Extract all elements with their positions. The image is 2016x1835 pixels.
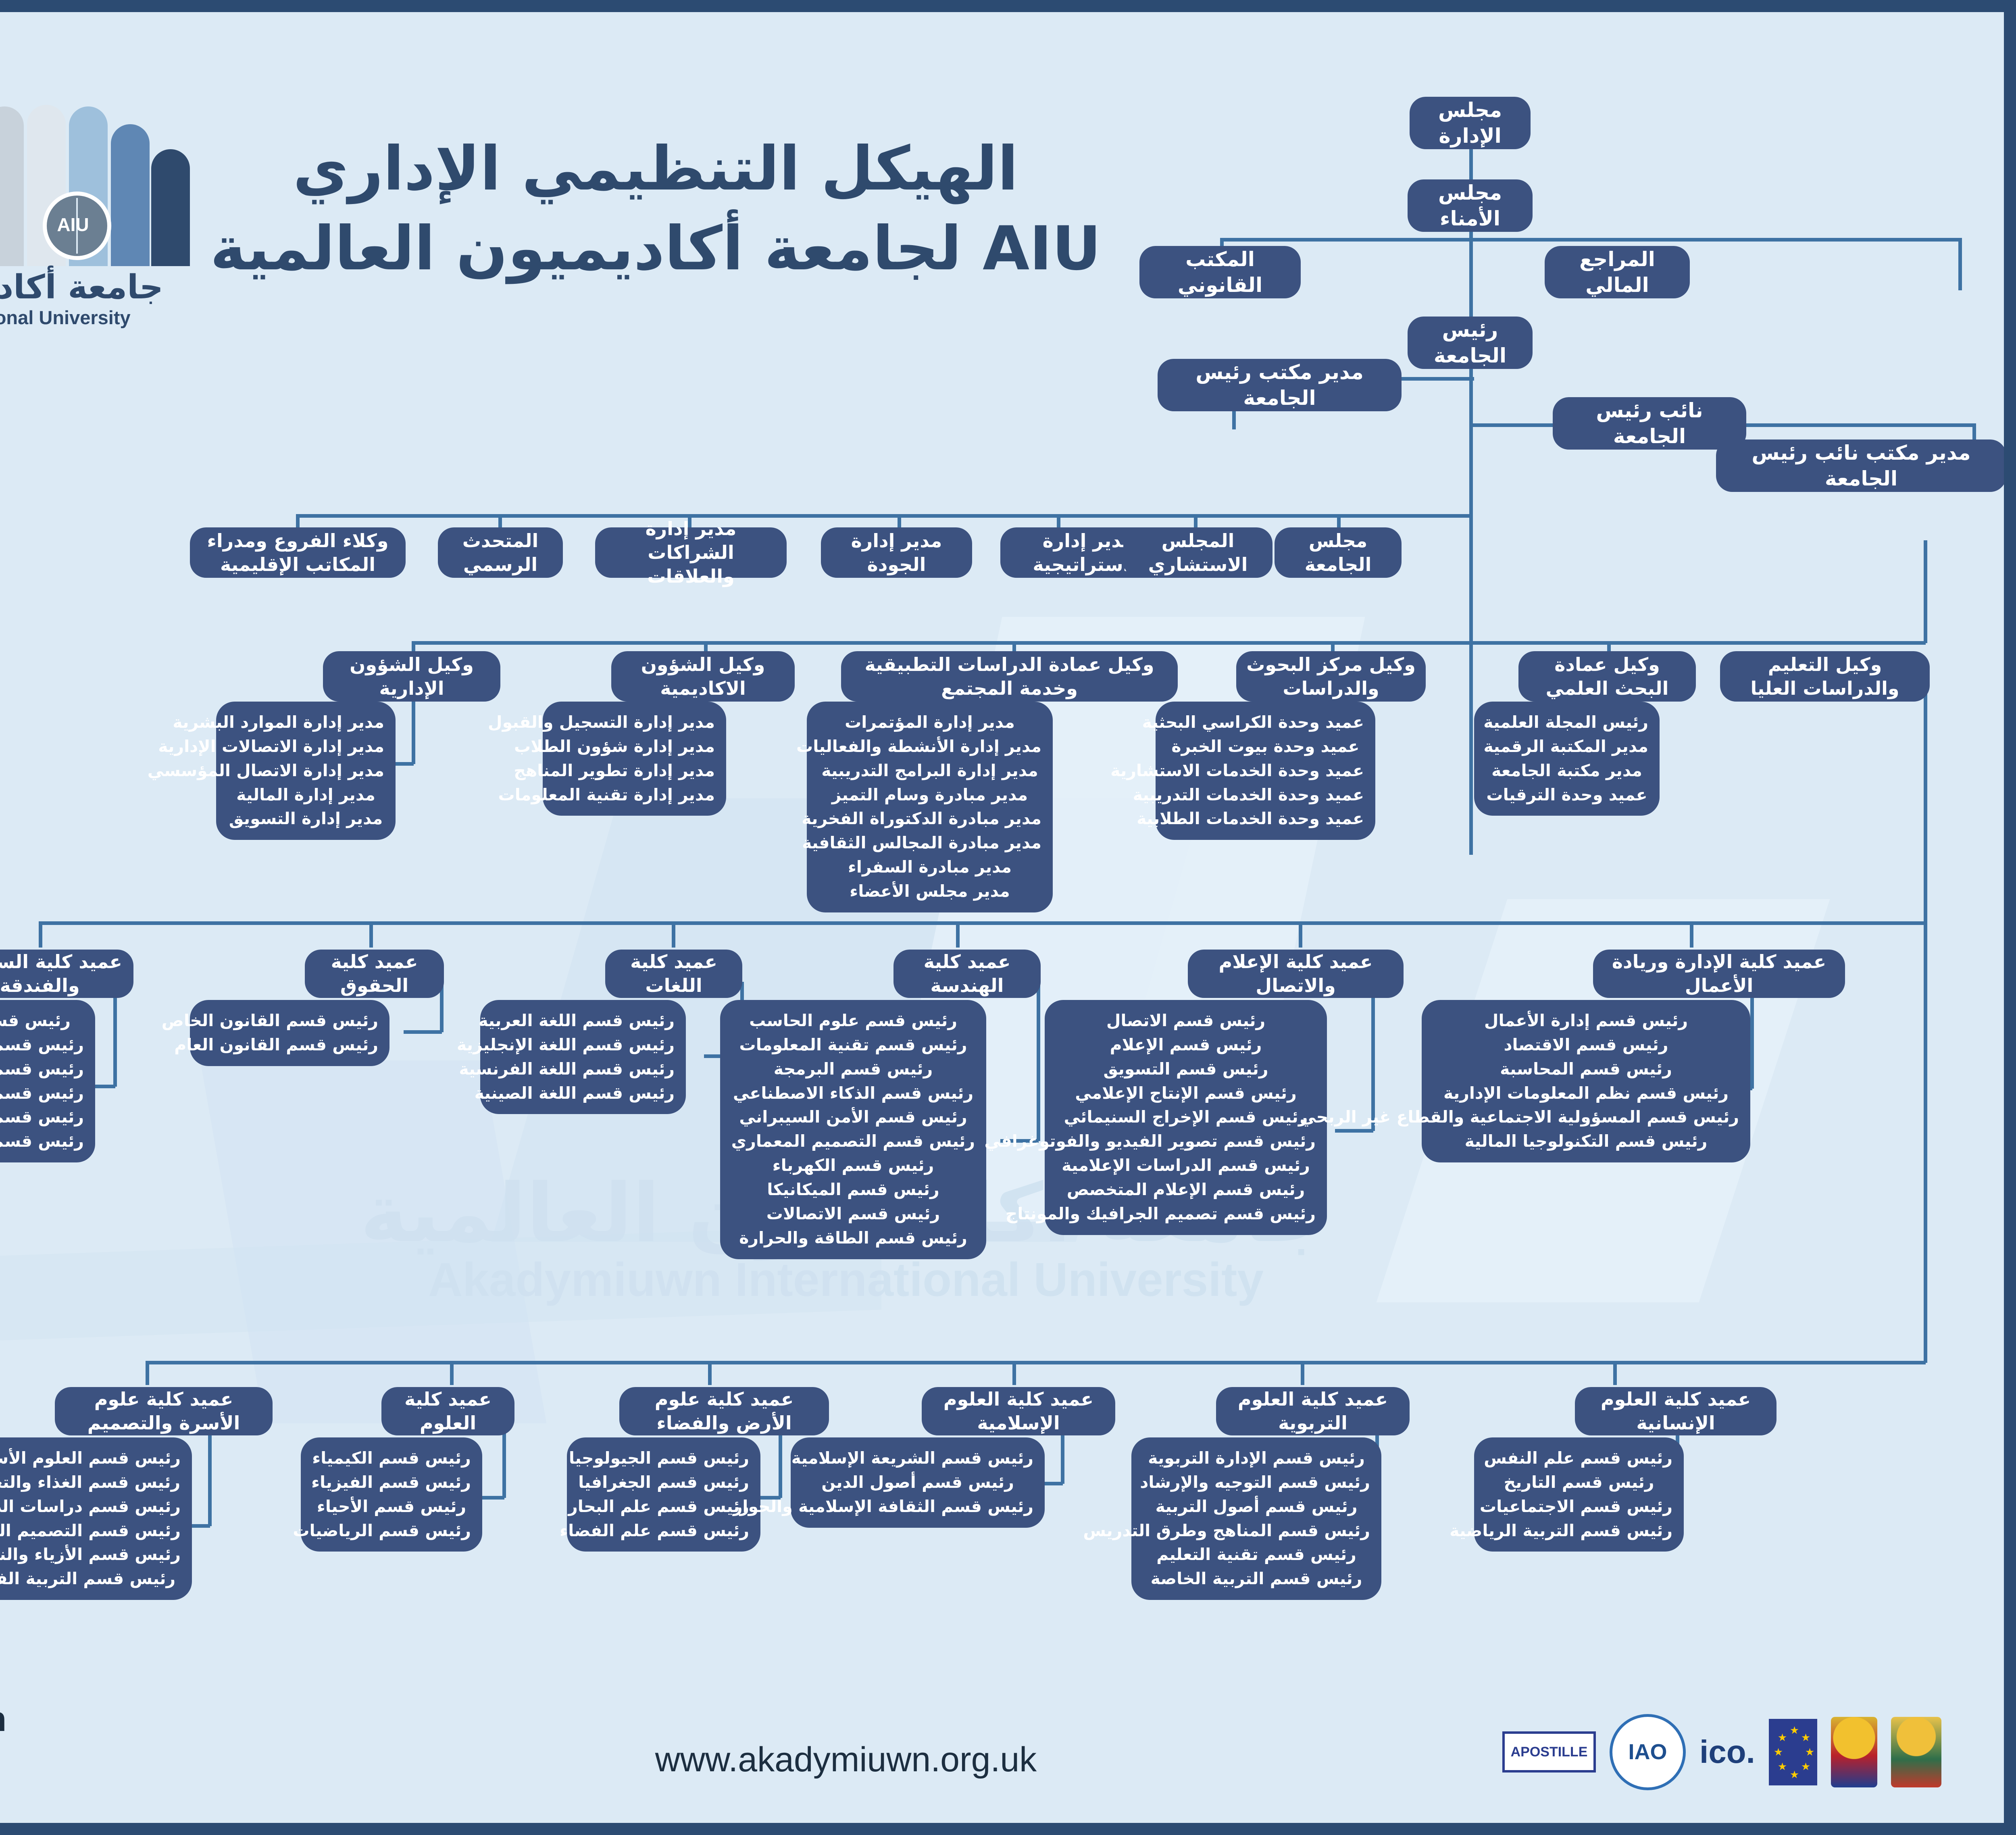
list-educational-departments: رئيس قسم الإدارة التربويةرئيس قسم التوجي…: [1131, 1437, 1381, 1600]
node-board-of-directors[interactable]: مجلس الإدارة: [1410, 97, 1531, 149]
list-media-departments: رئيس قسم الاتصالرئيس قسم الإعلامرئيس قسم…: [1045, 1000, 1327, 1235]
watermark: جامعة أكاديميون العالمية Akadymiuwn Inte…: [0, 1173, 2004, 1306]
list-item[interactable]: رئيس قسم دراسات الطفولة: [0, 1495, 181, 1519]
node-dean-law[interactable]: عميد كلية الحقوق: [305, 950, 444, 998]
list-item[interactable]: رئيس قسم الكيمياء: [312, 1446, 471, 1470]
list-item[interactable]: عميد وحدة الترقيات: [1485, 783, 1648, 807]
connector: [1335, 1129, 1373, 1133]
connector: [404, 1030, 442, 1034]
list-academic-affairs: مدير إدارة التسجيل والقبولمدير إدارة شؤو…: [543, 702, 726, 816]
title-line-2: لجامعة أكاديميون العالمية AIU: [192, 209, 1119, 289]
eu-flag-icon: ★★ ★★ ★★ ★★: [1769, 1719, 1817, 1785]
background-ray: [200, 1060, 547, 1423]
node-official-spokesperson[interactable]: المتحدث الرسمي: [438, 527, 563, 578]
node-dean-educational-sciences[interactable]: عميد كلية العلوم التربوية: [1216, 1387, 1410, 1435]
connector: [296, 514, 1471, 518]
connector: [1301, 1361, 1304, 1385]
list-item[interactable]: رئيس قسم الأزياء والنسيج: [0, 1543, 181, 1567]
list-business-departments: رئيس قسم إدارة الأعمالرئيس قسم الاقتصادر…: [1422, 1000, 1750, 1162]
connector: [1613, 1361, 1617, 1385]
list-item[interactable]: رئيس قسم التصميم الداخلي والأثاث: [0, 1519, 181, 1543]
list-item[interactable]: مدير إدارة المالية: [227, 783, 384, 807]
list-item[interactable]: رئيس قسم الإدارة السياحية: [0, 1033, 84, 1057]
list-item[interactable]: رئيس قسم علم النفس: [1485, 1446, 1672, 1470]
connector: [146, 1361, 149, 1385]
connector: [1037, 982, 1040, 1141]
list-item[interactable]: رئيس قسم تصوير الفيديو والفوتوغرافي: [1056, 1129, 1316, 1154]
iao-label: IAO: [1610, 1714, 1686, 1790]
logo-mark-text: AIU: [43, 214, 103, 235]
list-item[interactable]: رئيس قسم الرياضيات: [312, 1519, 471, 1543]
list-engineering-departments: رئيس قسم علوم الحاسبرئيس قسم تقنية المعل…: [720, 1000, 986, 1259]
list-law-departments: رئيس قسم القانون الخاصرئيس قسم القانون ا…: [190, 1000, 389, 1066]
list-research-center: عميد وحدة الكراسي البحثيةعميد وحدة بيوت …: [1156, 702, 1375, 840]
list-item[interactable]: رئيس قسم أصول التربية: [1143, 1495, 1370, 1519]
node-university-council[interactable]: مجلس الجامعة: [1275, 527, 1402, 578]
crest-icon: [1831, 1717, 1877, 1787]
list-item[interactable]: رئيس قسم الثقافة الإسلامية والحوار: [802, 1495, 1033, 1519]
list-item[interactable]: رئيس قسم البرمجة: [731, 1057, 975, 1081]
list-item[interactable]: رئيس قسم الفيزياء: [312, 1470, 471, 1495]
list-item[interactable]: مدير إدارة المؤتمرات: [818, 710, 1041, 735]
list-languages-departments: رئيس قسم اللغة العربيةرئيس قسم اللغة الإ…: [480, 1000, 686, 1114]
list-item[interactable]: عميد وحدة الخدمات الاستشارية: [1167, 759, 1364, 783]
list-item[interactable]: رئيس قسم الجيولوجيا: [578, 1446, 749, 1470]
list-item[interactable]: رئيس قسم الإخراج السنيمائي: [1056, 1105, 1316, 1129]
list-item[interactable]: عميد وحدة الخدمات الطلابية: [1167, 807, 1364, 831]
list-family-sciences-departments: رئيس قسم العلوم الأسريةرئيس قسم الغذاء و…: [0, 1437, 192, 1600]
node-dean-tourism-hospitality[interactable]: عميد كلية السياحة والفندقة: [0, 950, 133, 998]
list-item[interactable]: رئيس قسم الجغرافيا: [578, 1470, 749, 1495]
list-item[interactable]: رئيس قسم الاقتصاد: [1433, 1033, 1739, 1057]
list-item[interactable]: رئيس قسم الدراسات الإعلامية: [1056, 1154, 1316, 1178]
list-item[interactable]: مدير مبادرة المجالس الثقافية: [818, 831, 1041, 855]
list-item[interactable]: رئيس قسم الشريعة الإسلامية: [802, 1446, 1033, 1470]
node-dean-business-entrepreneurship[interactable]: عميد كلية الإدارة وريادة الأعمال: [1593, 950, 1845, 998]
watermark-arabic: جامعة أكاديميون العالمية: [0, 1173, 2004, 1254]
list-item[interactable]: مدير مجلس الأعضاء: [818, 879, 1041, 904]
list-item[interactable]: رئيس قسم التربية الفنية: [0, 1567, 181, 1591]
connector: [369, 921, 373, 948]
apostille-badge: APOSTILLE: [1502, 1718, 1596, 1786]
list-item[interactable]: رئيس المجلة العلمية: [1485, 710, 1648, 735]
node-vice-rector-administrative[interactable]: وكيل الشؤون الإدارية: [323, 651, 500, 702]
list-item[interactable]: رئيس قسم الإنتاج الإعلامي: [1056, 1081, 1316, 1106]
node-university-president[interactable]: رئيس الجامعة: [1408, 317, 1533, 369]
node-legal-office[interactable]: المكتب القانوني: [1139, 246, 1301, 298]
list-item[interactable]: رئيس قسم الاجتماعيات: [1485, 1495, 1672, 1519]
connector: [1012, 1361, 1016, 1385]
connector: [1220, 238, 1962, 242]
accreditation-badges: APOSTILLE IAO ico. ★★ ★★ ★★ ★★: [1502, 1718, 1941, 1786]
list-item[interactable]: رئيس قسم الأحياء: [312, 1495, 471, 1519]
node-vice-rector-applied-studies[interactable]: وكيل عمادة الدراسات التطبيقية وخدمة المج…: [841, 651, 1178, 702]
list-item[interactable]: رئيس قسم الكهرباء: [731, 1154, 975, 1178]
node-vice-rector-scientific-research[interactable]: وكيل عمادة البحث العلمي: [1518, 651, 1696, 702]
list-earth-space-departments: رئيس قسم الجيولوجيارئيس قسم الجغرافيارئي…: [567, 1437, 760, 1552]
list-item[interactable]: مدير مبادرة الدكتوراة الفخرية: [818, 807, 1041, 831]
list-item[interactable]: رئيس قسم القانون الخاص: [201, 1009, 378, 1033]
list-item[interactable]: مدير إدارة الموارد البشرية: [227, 710, 384, 735]
list-item[interactable]: عميد وحدة الخدمات التدريبية: [1167, 783, 1364, 807]
page-title: الهيكل التنظيمي الإداري لجامعة أكاديميون…: [192, 129, 1119, 289]
list-item[interactable]: عميد وحدة الكراسي البحثية: [1167, 710, 1364, 735]
node-vice-president[interactable]: نائب رئيس الجامعة: [1553, 397, 1746, 450]
list-item[interactable]: رئيس قسم علم الفضاء: [578, 1519, 749, 1543]
list-item[interactable]: رئيس قسم الاتصالات: [731, 1202, 975, 1226]
list-item[interactable]: رئيس قسم المسؤولية الاجتماعية والقطاع غي…: [1433, 1105, 1739, 1129]
list-item[interactable]: رئيس قسم الميكانيكا: [731, 1178, 975, 1202]
list-item[interactable]: مدير إدارة التسويق: [227, 807, 384, 831]
list-item[interactable]: رئيس قسم الأغذية والمشروبات: [0, 1129, 84, 1154]
node-dean-media-communication[interactable]: عميد كلية الإعلام والاتصال: [1188, 950, 1404, 998]
list-item[interactable]: مدير إدارة التسجيل والقبول: [554, 710, 715, 735]
node-dean-humanities[interactable]: عميد كلية العلوم الإنسانية: [1575, 1387, 1776, 1435]
list-item[interactable]: مدير مبادرة السفراء: [818, 855, 1041, 879]
connector: [956, 921, 960, 948]
crest-icon: [1891, 1717, 1941, 1787]
list-item[interactable]: عميد وحدة بيوت الخبرة: [1167, 735, 1364, 759]
connector: [39, 921, 1926, 925]
list-item[interactable]: مدير إدارة البرامج التدريبية: [818, 759, 1041, 783]
list-item[interactable]: رئيس قسم اللغة الصينية: [492, 1081, 675, 1106]
list-item[interactable]: رئيس قسم التسويق: [1056, 1057, 1316, 1081]
list-item[interactable]: رئيس قسم الإدارة الفندقية: [0, 1081, 84, 1106]
list-item[interactable]: رئيس قسم الغذاء والتغذية: [0, 1470, 181, 1495]
list-item[interactable]: رئيس قسم تقنية المعلومات: [731, 1033, 975, 1057]
list-item[interactable]: رئيس قسم الإعلام: [1056, 1033, 1316, 1057]
logo-arabic-name: جامعة أكاديميون العالمية: [0, 268, 170, 306]
node-dean-family-sciences-design[interactable]: عميد كلية علوم الأسرة والتصميم: [55, 1387, 273, 1435]
list-item[interactable]: مدير إدارة تطوير المناهج: [554, 759, 715, 783]
list-item[interactable]: رئيس قسم المحاسبة: [1433, 1057, 1739, 1081]
list-item[interactable]: مدير إدارة الاتصالات الإدارية: [227, 735, 384, 759]
node-dean-languages[interactable]: عميد كلية اللغات: [605, 950, 742, 998]
eu-flag-badge: ★★ ★★ ★★ ★★: [1769, 1718, 1817, 1786]
list-item[interactable]: مدير إدارة الأنشطة والفعاليات: [818, 735, 1041, 759]
logo-mark: AIU: [0, 105, 190, 266]
university-logo: AIU جامعة أكاديميون العالمية Akadymiuwn …: [0, 105, 170, 331]
list-item[interactable]: رئيس قسم أصول الدين: [802, 1470, 1033, 1495]
list-item[interactable]: رئيس قسم إدارة الأعمال: [1433, 1009, 1739, 1033]
list-sciences-departments: رئيس قسم الكيمياءرئيس قسم الفيزياءرئيس ق…: [301, 1437, 482, 1552]
list-item[interactable]: رئيس قسم الاتصال: [1056, 1009, 1316, 1033]
list-islamic-departments: رئيس قسم الشريعة الإسلاميةرئيس قسم أصول …: [791, 1437, 1045, 1528]
org-chart-poster: جامعة أكاديميون العالمية Akadymiuwn Inte…: [0, 0, 2016, 1835]
list-item[interactable]: مدير إدارة شؤون الطلاب: [554, 735, 715, 759]
node-vice-rector-education-graduate[interactable]: وكيل التعليم والدراسات العليا: [1720, 651, 1930, 702]
list-item[interactable]: رئيس قسم الأمن السيبراني: [731, 1105, 975, 1129]
node-dean-sciences[interactable]: عميد كلية العلوم: [381, 1387, 514, 1435]
list-item[interactable]: رئيس قسم اللغة الفرنسية: [492, 1057, 675, 1081]
list-item[interactable]: رئيس قسم الذكاء الاصطناعي: [731, 1081, 975, 1106]
list-item[interactable]: رئيس قسم اللغة الإنجليزية: [492, 1033, 675, 1057]
ico-badge: ico.: [1699, 1718, 1755, 1786]
connector: [708, 1361, 712, 1385]
node-branch-agents[interactable]: وكلاء الفروع ومدراء المكاتب الإقليمية: [190, 527, 406, 578]
connector: [39, 921, 42, 948]
list-item[interactable]: مدير المكتبة الرقمية: [1485, 735, 1648, 759]
list-item[interactable]: رئيس قسم علوم الحاسب: [731, 1009, 975, 1033]
list-administrative-affairs: مدير إدارة الموارد البشريةمدير إدارة الا…: [216, 702, 396, 840]
node-dean-engineering[interactable]: عميد كلية الهندسة: [893, 950, 1041, 998]
list-item[interactable]: مدير مكتبة الجامعة: [1485, 759, 1648, 783]
connector: [1958, 238, 1962, 290]
node-vice-rector-research-center[interactable]: وكيل مركز البحوث والدراسات: [1236, 651, 1426, 702]
list-applied-studies: مدير إدارة المؤتمراتمدير إدارة الأنشطة و…: [807, 702, 1053, 912]
node-quality-director[interactable]: مدير إدارة الجودة: [821, 527, 972, 578]
connector: [412, 641, 1926, 645]
list-item[interactable]: رئيس قسم نظم المعلومات الإدارية: [1433, 1081, 1739, 1106]
list-item[interactable]: رئيس قسم التصميم المعماري: [731, 1129, 975, 1154]
node-vice-rector-academic[interactable]: وكيل الشؤون الاكاديمية: [611, 651, 795, 702]
node-vice-president-office-director[interactable]: مدير مكتب نائب رئيس الجامعة: [1716, 439, 2006, 492]
apostille-label: APOSTILLE: [1502, 1731, 1596, 1773]
node-dean-earth-space-sciences[interactable]: عميد كلية علوم الأرض والفضاء: [619, 1387, 829, 1435]
list-humanities-departments: رئيس قسم علم النفسرئيس قسم التاريخرئيس ق…: [1474, 1437, 1684, 1552]
royal-crest-badge-2: [1891, 1718, 1941, 1786]
list-item[interactable]: رئيس قسم الطاقة والحرارة: [731, 1226, 975, 1250]
logo-english-name: Akadymiuwn International University: [0, 306, 170, 329]
iao-badge: IAO: [1610, 1718, 1686, 1786]
list-item[interactable]: رئيس قسم علم البحار: [578, 1495, 749, 1519]
list-item[interactable]: مدير مبادرة وسام التميز: [818, 783, 1041, 807]
list-item[interactable]: رئيس قسم التوجيه والإرشاد: [1143, 1470, 1370, 1495]
list-item[interactable]: رئيس قسم الخدمة الفندقية: [0, 1105, 84, 1129]
ico-label: ico.: [1699, 1733, 1755, 1770]
list-item[interactable]: رئيس قسم التكنولوجيا المالية: [1433, 1129, 1739, 1154]
list-item[interactable]: رئيس قسم العلوم الأسرية: [0, 1446, 181, 1470]
list-tourism-departments: رئيس قسم علم الآثاررئيس قسم الإدارة السي…: [0, 1000, 95, 1162]
connector: [450, 1361, 454, 1385]
node-dean-islamic-sciences[interactable]: عميد كلية العلوم الإسلامية: [922, 1387, 1115, 1435]
list-item[interactable]: رئيس قسم تصميم الجرافيك والمونتاج: [1056, 1202, 1316, 1226]
connector: [672, 921, 675, 948]
node-board-of-trustees[interactable]: مجلس الأمناء: [1408, 179, 1533, 232]
list-item[interactable]: رئيس قسم الإعلام المتخصص: [1056, 1178, 1316, 1202]
list-item[interactable]: رئيس قسم المناهج وطرق التدريس: [1143, 1519, 1370, 1543]
list-item[interactable]: رئيس قسم التربية الخاصة: [1143, 1567, 1370, 1591]
node-partnerships-director[interactable]: مدير إدارة الشراكات والعلاقات: [595, 527, 787, 578]
connector: [1690, 921, 1693, 948]
social-handle: @akadymiuwn: [0, 1700, 6, 1739]
list-item[interactable]: رئيس قسم التربية الرياضية: [1485, 1519, 1672, 1543]
connector: [1299, 921, 1302, 948]
list-item[interactable]: رئيس قسم التاريخ: [1485, 1470, 1672, 1495]
list-item[interactable]: مدير إدارة تقنية المعلومات: [554, 783, 715, 807]
connector: [1924, 540, 1927, 643]
title-line-1: الهيكل التنظيمي الإداري: [192, 129, 1119, 209]
connector: [1924, 689, 1927, 923]
list-item[interactable]: رئيس قسم القانون العام: [201, 1033, 378, 1057]
watermark-english: Akadymiuwn International University: [0, 1254, 2004, 1306]
list-item[interactable]: رئيس قسم اللغة العربية: [492, 1009, 675, 1033]
list-item[interactable]: رئيس قسم الإدارة التربوية: [1143, 1446, 1370, 1470]
list-item[interactable]: مدير إدارة الاتصال المؤسسي: [227, 759, 384, 783]
list-item[interactable]: رئيس قسم علم الآثار: [0, 1009, 84, 1033]
node-financial-auditor[interactable]: المراجع المالي: [1545, 246, 1690, 298]
list-item[interactable]: رئيس قسم تقنية التعليم: [1143, 1543, 1370, 1567]
node-advisory-council[interactable]: المجلس الاستشاري: [1123, 527, 1272, 578]
list-scientific-research: رئيس المجلة العلميةمدير المكتبة الرقميةم…: [1474, 702, 1660, 816]
list-item[interactable]: رئيس قسم الإرشاد السياحي: [0, 1057, 84, 1081]
royal-crest-badge-1: [1831, 1718, 1877, 1786]
connector: [1924, 921, 1927, 1363]
node-president-office-director[interactable]: مدير مكتب رئيس الجامعة: [1158, 359, 1402, 411]
connector: [146, 1361, 1926, 1364]
